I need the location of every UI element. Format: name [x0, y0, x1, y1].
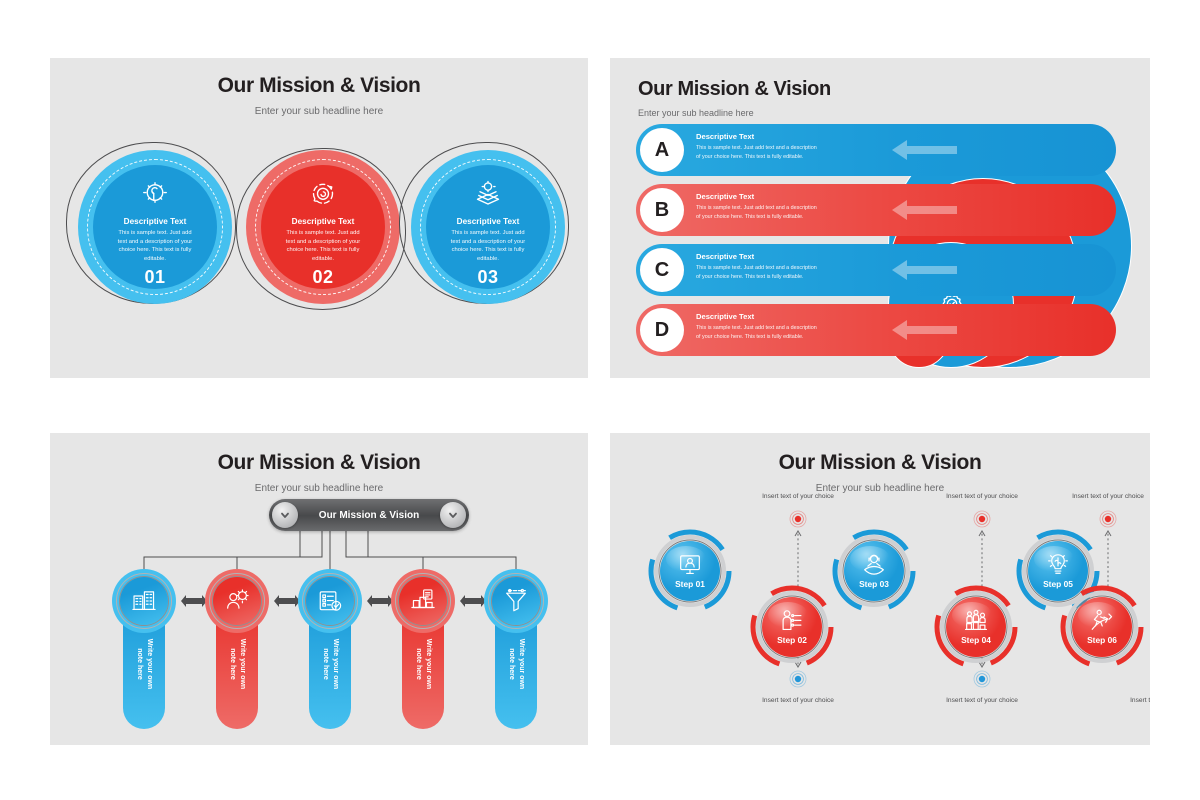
step-circle[interactable]: Step 03 — [832, 529, 916, 613]
chevron-down-icon-left[interactable] — [272, 502, 298, 528]
red-dot-marker — [1099, 510, 1117, 528]
item-heading: Descriptive Text — [457, 217, 520, 226]
row-heading: Descriptive Text — [696, 252, 896, 261]
panel-mission-vision-arrows: Our Mission & Vision Enter your sub head… — [610, 58, 1150, 378]
step-label: Step 04 — [934, 635, 1018, 645]
item-number: 02 — [312, 267, 333, 288]
red-dot-marker — [973, 510, 991, 528]
step-inner-disc — [946, 597, 1006, 657]
tree-root-label: Our Mission & Vision — [319, 510, 419, 521]
item-heading: Descriptive Text — [292, 217, 355, 226]
left-arrow-icon — [891, 139, 957, 161]
item-body: This is sample text. Just add text and a… — [446, 229, 530, 264]
column-icon-circle[interactable] — [306, 577, 354, 625]
left-arrow-icon — [891, 199, 957, 221]
step-inner-disc — [1072, 597, 1132, 657]
circle-inner-disc: Descriptive Text This is sample text. Ju… — [261, 165, 385, 289]
step-inner-disc — [762, 597, 822, 657]
layers-gear-icon — [473, 180, 503, 210]
item-number: 03 — [477, 267, 498, 288]
row-heading: Descriptive Text — [696, 192, 896, 201]
circle-outer-ring: Descriptive Text This is sample text. Ju… — [411, 150, 565, 304]
row-badge: D — [640, 308, 684, 352]
page-title: Our Mission & Vision — [50, 74, 588, 98]
step-inner-disc — [844, 541, 904, 601]
step-label: Step 01 — [648, 579, 732, 589]
row-heading: Descriptive Text — [696, 312, 896, 321]
checklist-icon — [317, 588, 343, 614]
step-caption: Insert text of your choice — [1043, 493, 1150, 500]
step-inner-disc — [660, 541, 720, 601]
step-caption: Insert text of your choice — [1101, 697, 1150, 704]
step-label: Step 06 — [1060, 635, 1144, 645]
item-body: This is sample text. Just add text and a… — [281, 229, 365, 264]
row-heading: Descriptive Text — [696, 132, 896, 141]
step-caption: Insert text of your choice — [733, 697, 863, 704]
circle-item[interactable]: Descriptive Text This is sample text. Ju… — [72, 144, 247, 319]
row-body: This is sample text. Just add text and a… — [696, 204, 896, 222]
circle-inner-disc: Descriptive Text This is sample text. Ju… — [93, 165, 217, 289]
arrow-row-list: A Descriptive Text This is sample text. … — [636, 124, 1122, 364]
tree-column-list: Write your ownnote here Write your ownno… — [50, 569, 588, 739]
step-label: Step 02 — [750, 635, 834, 645]
left-arrow-icon — [891, 319, 957, 341]
step-circle[interactable]: Step 04 — [934, 585, 1018, 669]
circle-item[interactable]: Descriptive Text This is sample text. Ju… — [405, 144, 580, 319]
item-body: This is sample text. Just add text and a… — [113, 229, 197, 264]
row-badge: B — [640, 188, 684, 232]
buildings-icon — [131, 588, 157, 614]
step-circle[interactable]: Step 06 — [1060, 585, 1144, 669]
double-arrow-icon — [459, 594, 487, 608]
item-number: 01 — [144, 267, 165, 288]
page-title: Our Mission & Vision — [638, 78, 831, 101]
circle-outer-ring: Descriptive Text This is sample text. Ju… — [78, 150, 232, 304]
red-dot-marker — [789, 510, 807, 528]
gear-refresh-icon — [308, 180, 338, 210]
row-badge: C — [640, 248, 684, 292]
row-badge: A — [640, 128, 684, 172]
podium-report-icon — [410, 588, 436, 614]
gear-wrench-icon — [140, 180, 170, 210]
column-icon-circle[interactable] — [399, 577, 447, 625]
step-circle[interactable]: Step 01 — [648, 529, 732, 613]
funnel-icon — [503, 588, 529, 614]
arrow-row[interactable]: B Descriptive Text This is sample text. … — [636, 184, 1116, 236]
column-icon-circle[interactable] — [492, 577, 540, 625]
blue-dot-marker — [973, 670, 991, 688]
circle-outer-ring: Descriptive Text This is sample text. Ju… — [246, 150, 400, 304]
double-arrow-icon — [273, 594, 301, 608]
arrow-row[interactable]: C Descriptive Text This is sample text. … — [636, 244, 1116, 296]
panel-mission-vision-circles: Our Mission & Vision Enter your sub head… — [50, 58, 588, 378]
left-arrow-icon — [891, 259, 957, 281]
panel-mission-vision-steps: Our Mission & Vision Enter your sub head… — [610, 433, 1150, 745]
double-arrow-icon — [366, 594, 394, 608]
step-label: Step 03 — [832, 579, 916, 589]
circle-item[interactable]: Descriptive Text This is sample text. Ju… — [240, 144, 415, 319]
blue-dot-marker — [789, 670, 807, 688]
step-circle[interactable]: Step 02 — [750, 585, 834, 669]
row-body: This is sample text. Just add text and a… — [696, 144, 896, 162]
tree-root-pill[interactable]: Our Mission & Vision — [269, 499, 469, 531]
column-icon-circle[interactable] — [213, 577, 261, 625]
step-caption: Insert text of your choice — [917, 697, 1047, 704]
arrow-row[interactable]: A Descriptive Text This is sample text. … — [636, 124, 1116, 176]
circle-inner-disc: Descriptive Text This is sample text. Ju… — [426, 165, 550, 289]
circle-item-list: Descriptive Text This is sample text. Ju… — [50, 136, 588, 366]
column-icon-circle[interactable] — [120, 577, 168, 625]
double-arrow-icon — [180, 594, 208, 608]
chevron-down-icon-right[interactable] — [440, 502, 466, 528]
panel-mission-vision-tree: Our Mission & Vision Enter your sub head… — [50, 433, 588, 745]
step-caption: Insert text of your choice — [733, 493, 863, 500]
arrow-row[interactable]: D Descriptive Text This is sample text. … — [636, 304, 1116, 356]
step-caption: Insert text of your choice — [917, 493, 1047, 500]
page-subtitle: Enter your sub headline here — [50, 106, 588, 117]
row-body: This is sample text. Just add text and a… — [696, 324, 896, 342]
item-heading: Descriptive Text — [124, 217, 187, 226]
row-body: This is sample text. Just add text and a… — [696, 264, 896, 282]
page-subtitle: Enter your sub headline here — [638, 108, 754, 118]
user-idea-icon — [224, 588, 250, 614]
